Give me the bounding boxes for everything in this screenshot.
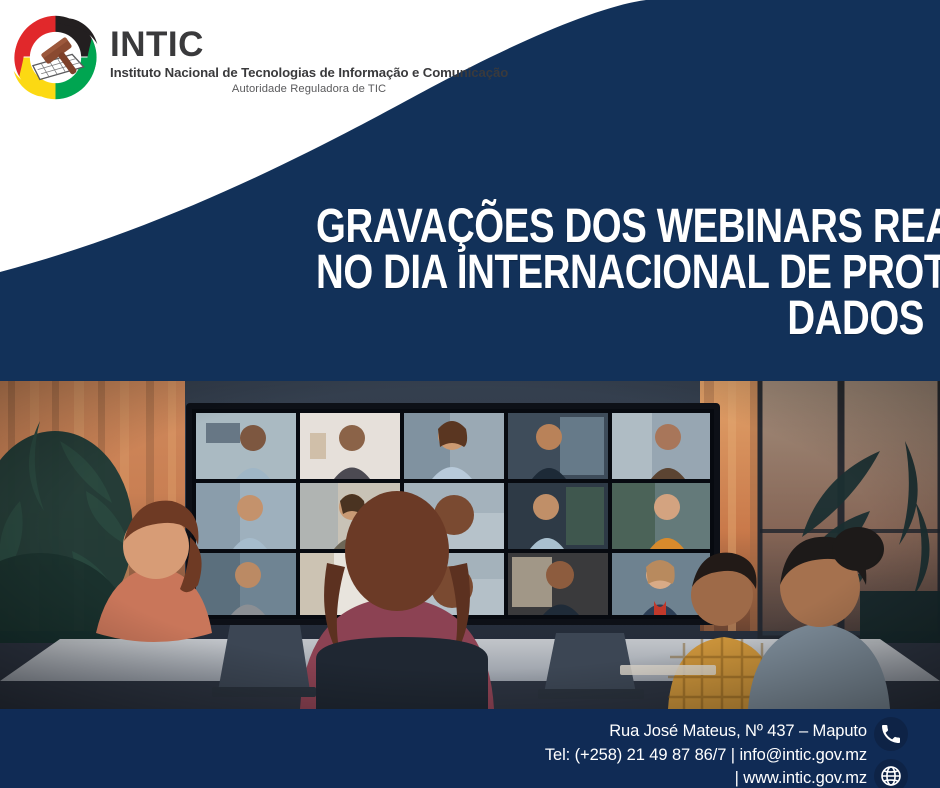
- meeting-room-illustration: [0, 381, 940, 709]
- meeting-room-photo: [0, 381, 940, 709]
- footer-address: Rua José Mateus, Nº 437 – Maputo: [545, 720, 867, 744]
- contact-footer: Rua José Mateus, Nº 437 – Maputo Tel: (+…: [0, 709, 940, 788]
- footer-website[interactable]: | www.intic.gov.mz: [545, 767, 867, 788]
- poster-title: GRAVAÇÕES DOS WEBINARS REALIZADOS NO DIA…: [164, 204, 924, 342]
- title-line-1: GRAVAÇÕES DOS WEBINARS REALIZADOS: [316, 204, 924, 250]
- brand-logo-text: INTIC Instituto Nacional de Tecnologias …: [110, 8, 508, 96]
- title-line-2: NO DIA INTERNACIONAL DE PROTECÇÃO DE: [316, 250, 924, 296]
- title-line-3: DADOS: [316, 296, 924, 342]
- footer-phone-email: Tel: (+258) 21 49 87 86/7 | info@intic.g…: [545, 744, 867, 768]
- poster-canvas: INTIC Instituto Nacional de Tecnologias …: [0, 0, 940, 788]
- footer-icon-group: [872, 715, 926, 783]
- brand-full-name: Instituto Nacional de Tecnologias de Inf…: [110, 65, 508, 80]
- phone-icon: [874, 717, 908, 751]
- brand-acronym: INTIC: [110, 27, 508, 62]
- brand-subtitle: Autoridade Reguladora de TIC: [110, 83, 508, 96]
- footer-contact-text: Rua José Mateus, Nº 437 – Maputo Tel: (+…: [545, 715, 867, 788]
- gavel-keyboard-swirl-logo-icon: [8, 10, 103, 105]
- brand-logo: INTIC Instituto Nacional de Tecnologias …: [8, 8, 508, 105]
- globe-icon: [874, 759, 908, 788]
